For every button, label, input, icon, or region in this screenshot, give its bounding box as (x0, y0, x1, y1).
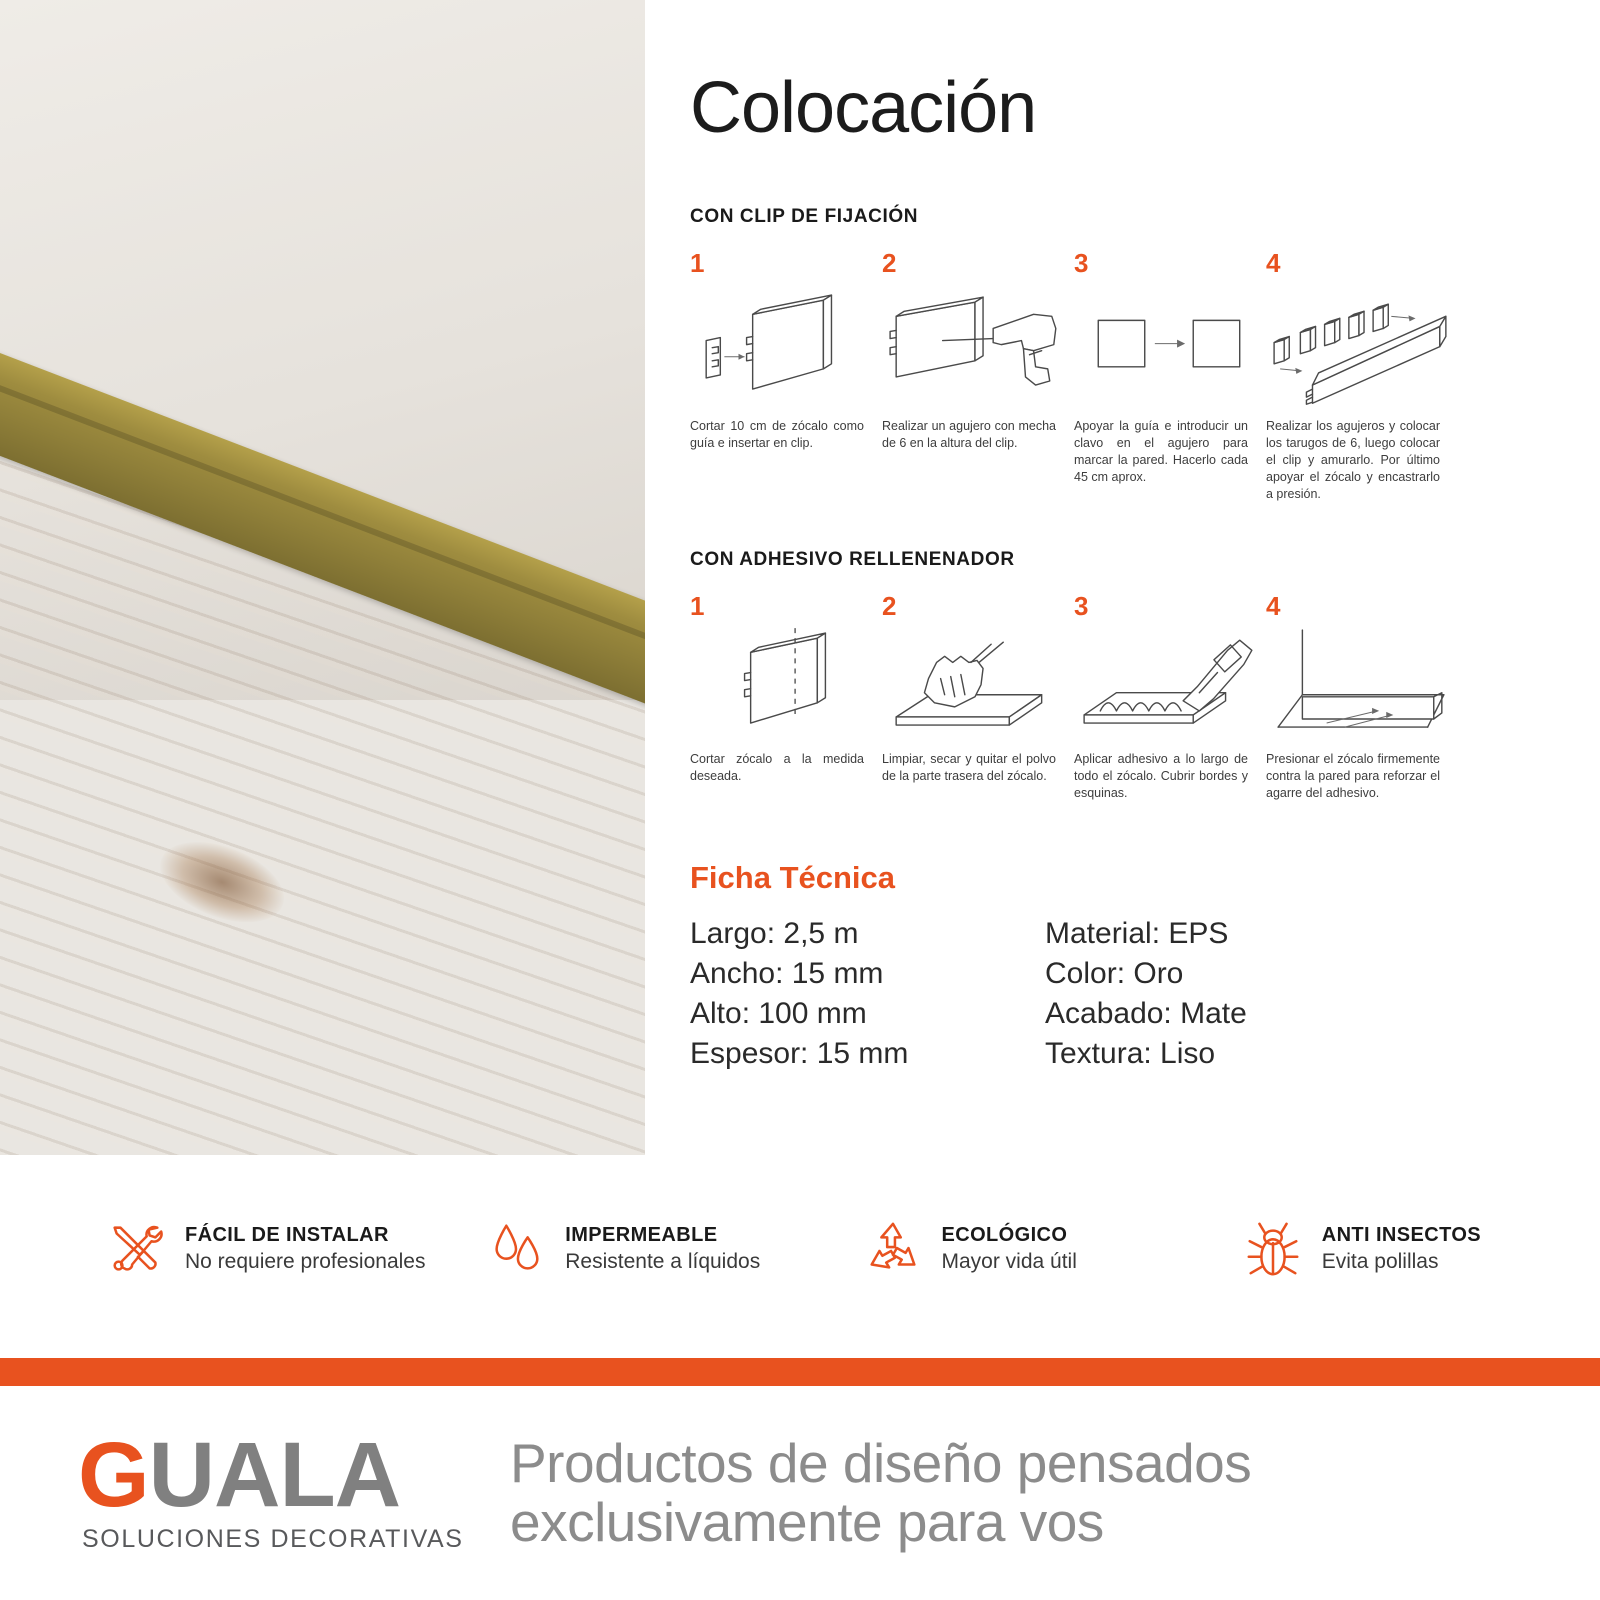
step-clip-4: 4 (1266, 250, 1458, 503)
feature-anti-insectos: ANTI INSECTOS Evita polillas (1220, 1218, 1600, 1280)
feature-subtitle: Resistente a líquidos (565, 1248, 760, 1275)
feature-title: FÁCIL DE INSTALAR (185, 1223, 425, 1248)
page-title: Colocación (690, 72, 1570, 144)
content-column: Colocación CON CLIP DE FIJACIÓN 1 (690, 0, 1570, 1074)
tools-icon (105, 1218, 167, 1280)
step-caption: Cortar zócalo a la medida deseada. (690, 751, 882, 785)
product-photo (0, 0, 645, 1155)
step-adhesivo-4: 4 (1266, 593, 1458, 802)
feature-subtitle: Evita polillas (1322, 1248, 1481, 1275)
tagline-line-1: Productos de diseño pensados (510, 1434, 1251, 1493)
droplets-icon (485, 1218, 547, 1280)
ficha-title: Ficha Técnica (690, 860, 1570, 896)
logo-wordmark: GUALA (78, 1432, 500, 1519)
ficha-column-left: Largo: 2,5 m Ancho: 15 mm Alto: 100 mm E… (690, 914, 1045, 1074)
spec-item: Textura: Liso (1045, 1034, 1400, 1074)
feature-text: IMPERMEABLE Resistente a líquidos (565, 1223, 760, 1275)
drill-icon (882, 280, 1074, 410)
brand-logo: GUALA SOLUCIONES DECORATIVAS (0, 1432, 500, 1554)
ficha-column-right: Material: EPS Color: Oro Acabado: Mate T… (1045, 914, 1400, 1074)
two-squares-arrow-icon (1074, 280, 1266, 410)
wall-corner-press-icon (1266, 623, 1458, 743)
feature-subtitle: No requiere profesionales (185, 1248, 425, 1275)
step-number: 1 (690, 593, 882, 619)
step-caption: Aplicar adhesivo a lo largo de todo el z… (1074, 751, 1266, 802)
step-clip-2: 2 Realiza (882, 250, 1074, 503)
feature-title: ECOLÓGICO (942, 1223, 1077, 1248)
step-clip-3: 3 Apoyar la guía e introducir un clavo e… (1074, 250, 1266, 503)
adhesive-tube-icon (1074, 623, 1266, 743)
feature-ecologico: ECOLÓGICO Mayor vida útil (844, 1218, 1220, 1280)
logo-subtitle: SOLUCIONES DECORATIVAS (78, 1525, 500, 1554)
logo-letter-g: G (78, 1424, 149, 1526)
feature-text: ECOLÓGICO Mayor vida útil (942, 1223, 1077, 1275)
step-adhesivo-1: 1 Cortar zócalo a la medida deseada. (690, 593, 882, 802)
step-adhesivo-2: 2 (882, 593, 1074, 802)
feature-facil-de-instalar: FÁCIL DE INSTALAR No requiere profesiona… (0, 1218, 463, 1280)
step-caption: Limpiar, secar y quitar el polvo de la p… (882, 751, 1074, 785)
spec-item: Material: EPS (1045, 914, 1400, 954)
step-number: 3 (1074, 593, 1266, 619)
clips-row-skirting-icon (1266, 280, 1458, 410)
orange-divider-bar (0, 1358, 1600, 1386)
tagline-line-2: exclusivamente para vos (510, 1493, 1251, 1552)
steps-row-adhesivo: 1 Cortar zócalo a la medida deseada. 2 (690, 593, 1570, 802)
footer: GUALA SOLUCIONES DECORATIVAS Productos d… (0, 1386, 1600, 1600)
step-caption: Realizar un agujero con mecha de 6 en la… (882, 418, 1074, 452)
step-adhesivo-3: 3 Aplicar adhesivo a lo largo de todo el… (1074, 593, 1266, 802)
spec-item: Acabado: Mate (1045, 994, 1400, 1034)
logo-letters-uala: UALA (149, 1424, 401, 1526)
step-number: 4 (1266, 593, 1458, 619)
spec-item: Largo: 2,5 m (690, 914, 1045, 954)
step-number: 2 (882, 593, 1074, 619)
step-caption: Realizar los agujeros y colocar los taru… (1266, 418, 1458, 503)
spec-item: Espesor: 15 mm (690, 1034, 1045, 1074)
technical-sheet: Ficha Técnica Largo: 2,5 m Ancho: 15 mm … (690, 860, 1570, 1074)
step-number: 4 (1266, 250, 1458, 276)
ficha-columns: Largo: 2,5 m Ancho: 15 mm Alto: 100 mm E… (690, 914, 1570, 1074)
step-number: 1 (690, 250, 882, 276)
feature-title: IMPERMEABLE (565, 1223, 760, 1248)
feature-subtitle: Mayor vida útil (942, 1248, 1077, 1275)
steps-row-clip: 1 (690, 250, 1570, 503)
spec-item: Color: Oro (1045, 954, 1400, 994)
feature-impermeable: IMPERMEABLE Resistente a líquidos (463, 1218, 843, 1280)
step-number: 2 (882, 250, 1074, 276)
feature-text: ANTI INSECTOS Evita polillas (1322, 1223, 1481, 1275)
skirting-with-clip-icon (690, 280, 882, 410)
spec-item: Ancho: 15 mm (690, 954, 1045, 994)
section-heading-adhesivo: CON ADHESIVO RELLENENADOR (690, 549, 1570, 571)
feature-bar: FÁCIL DE INSTALAR No requiere profesiona… (0, 1185, 1600, 1313)
cut-skirting-icon (690, 623, 882, 743)
feature-title: ANTI INSECTOS (1322, 1223, 1481, 1248)
hand-cleaning-icon (882, 623, 1074, 743)
bug-icon (1242, 1218, 1304, 1280)
step-number: 3 (1074, 250, 1266, 276)
spec-item: Alto: 100 mm (690, 994, 1045, 1034)
step-caption: Cortar 10 cm de zócalo como guía e inser… (690, 418, 882, 452)
step-caption: Presionar el zócalo firmemente contra la… (1266, 751, 1458, 802)
footer-tagline: Productos de diseño pensados exclusivame… (500, 1434, 1251, 1553)
infographic-page: Colocación CON CLIP DE FIJACIÓN 1 (0, 0, 1600, 1600)
step-caption: Apoyar la guía e introducir un clavo en … (1074, 418, 1266, 486)
step-clip-1: 1 (690, 250, 882, 503)
feature-text: FÁCIL DE INSTALAR No requiere profesiona… (185, 1223, 425, 1275)
recycle-icon (862, 1218, 924, 1280)
section-heading-clip: CON CLIP DE FIJACIÓN (690, 206, 1570, 228)
